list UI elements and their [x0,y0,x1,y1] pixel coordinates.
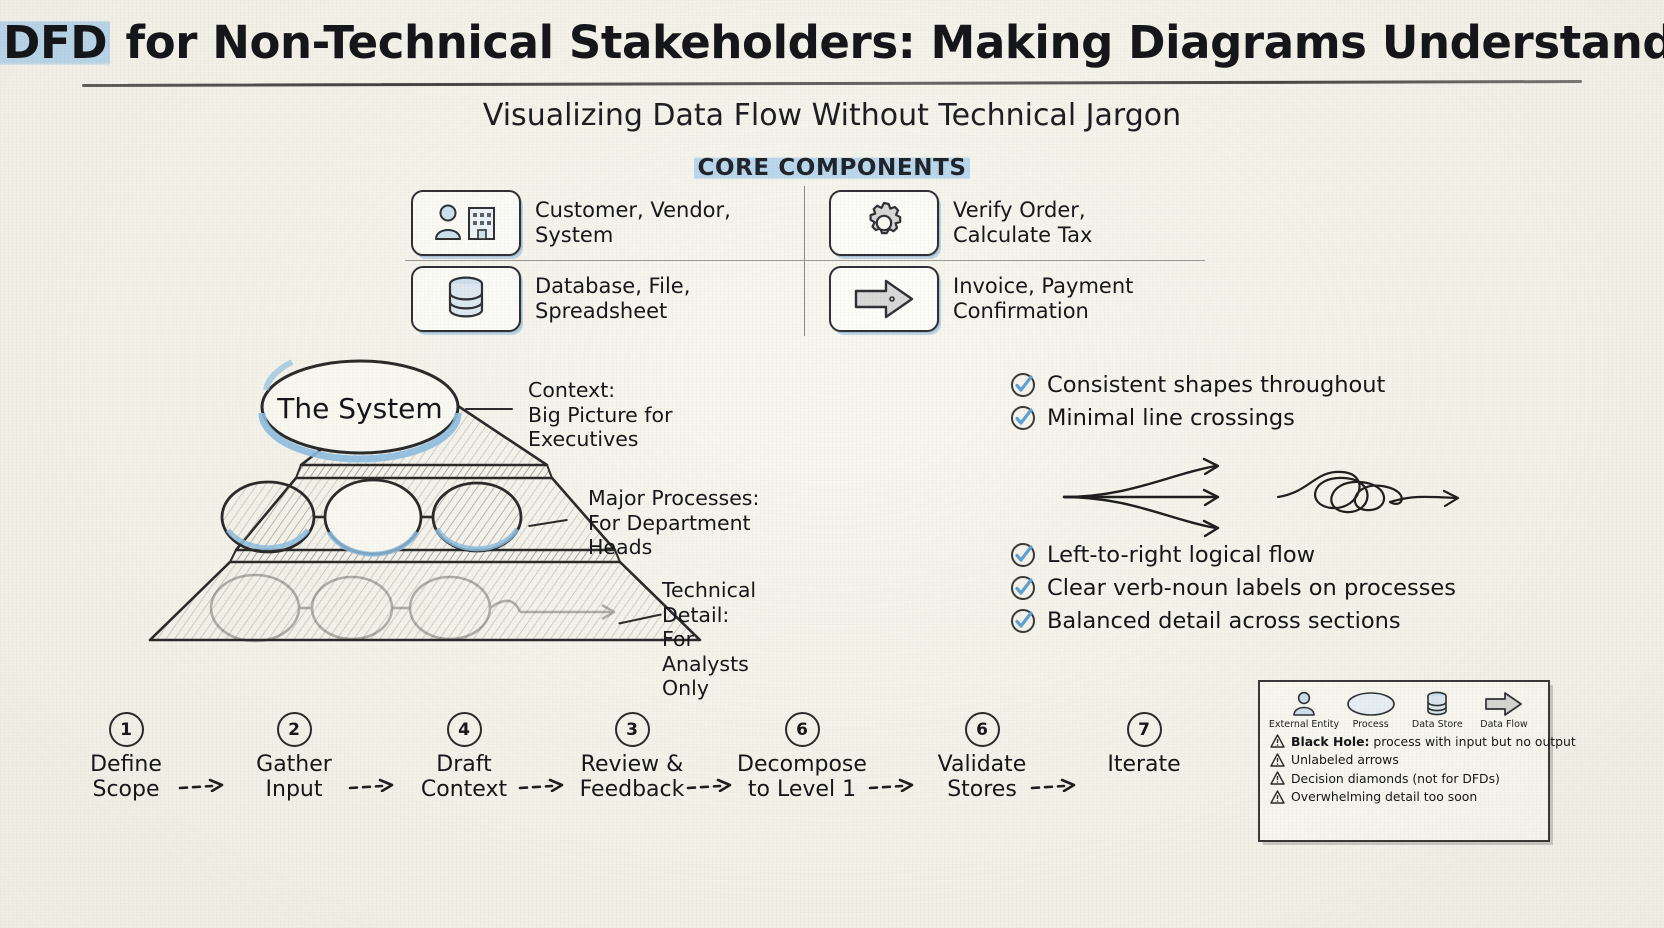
database-icon [443,274,489,324]
step-2: 2 Gather Input [224,712,364,802]
tier-context-title: Context: [528,378,760,403]
step-connector-arrow [348,774,408,792]
title-highlight: DFD [0,16,110,69]
step-label-line2: Scope [56,777,196,802]
step-label-line1: Define [56,752,196,777]
pitfall-item: Unlabeled arrows [1268,752,1540,767]
step-label-line2: Feedback [562,777,702,802]
step-number: 2 [277,712,312,747]
legend-caption: Data Store [1412,719,1463,730]
pitfall-item: Overwhelming detail too soon [1268,789,1540,804]
checklist-label: Left-to-right logical flow [1047,542,1315,568]
warning-triangle-icon [1270,771,1285,785]
data-store-icon [1423,690,1451,718]
gear-icon [859,198,909,248]
legend-caption: Process [1353,719,1389,730]
check-circle-icon [1010,372,1036,398]
step-label-line2: Context [394,777,534,802]
checklist-upper: Consistent shapes throughout Minimal lin… [1010,372,1530,438]
process-ellipse-icon [1345,690,1397,718]
step-3: 4 Draft Context [394,712,534,802]
step-connector-arrow [686,774,746,792]
legend-box: External Entity Process [1258,680,1550,842]
tier-major-title: Major Processes: [588,486,760,511]
tier-label-major: Major Processes: For Department Heads [588,486,760,560]
pitfall-item: Decision diamonds (not for DFDs) [1268,771,1540,786]
core-components-grid: Customer, Vendor, System Verify Order, C… [405,186,1205,336]
step-connector-arrow [518,774,578,792]
data-flow-icon [1484,690,1524,718]
tier-technical-detail: For Analysts Only [662,627,760,701]
page-title: DFD for Non-Technical Stakeholders: Maki… [0,16,1664,69]
check-circle-icon [1010,575,1036,601]
clean-arrows-icon [1064,459,1218,536]
core-component-process: Verify Order, Calculate Tax [805,186,1205,261]
entity-label: Customer, Vendor, System [535,198,798,248]
pitfall-label: Unlabeled arrows [1291,752,1399,767]
checklist-label: Consistent shapes throughout [1047,372,1385,398]
title-block: DFD for Non-Technical Stakeholders: Maki… [0,16,1664,69]
step-label-line1: Review & [562,752,702,777]
infographic-canvas: DFD for Non-Technical Stakeholders: Maki… [0,0,1664,928]
core-components-heading-text: CORE COMPONENTS [694,155,969,181]
step-label-line1: Iterate [1074,752,1214,777]
warning-triangle-icon [1270,790,1285,804]
warning-triangle-icon [1270,734,1285,748]
person-building-icon [431,201,501,245]
pitfall-label: Black Hole: process with input but no ou… [1291,734,1576,749]
checklist-item: Minimal line crossings [1010,405,1530,431]
step-connector-arrow [868,774,928,792]
legend-process: Process [1339,690,1403,730]
title-underline [82,80,1582,87]
legend-caption: Data Flow [1480,719,1527,730]
checklist-lower: Left-to-right logical flow Clear verb-no… [1010,542,1530,641]
leader-line-context [465,408,513,410]
step-label-line1: Draft [394,752,534,777]
process-icon-box [829,190,939,256]
checklist-label: Balanced detail across sections [1047,608,1401,634]
tier-label-context: Context: Big Picture for Executives [528,378,760,452]
legend-external-entity: External Entity [1272,690,1336,730]
step-number: 4 [447,712,482,747]
pitfall-label: Decision diamonds (not for DFDs) [1291,771,1500,786]
checklist-item: Left-to-right logical flow [1010,542,1530,568]
title-rest: for Non-Technical Stakeholders: Making D… [110,16,1664,69]
block-arrow-icon [852,277,916,321]
step-number: 7 [1127,712,1162,747]
step-number: 3 [615,712,650,747]
abstraction-pyramid: The System Context: Big Picture for Exec… [120,350,760,690]
page-subtitle: Visualizing Data Flow Without Technical … [0,98,1664,133]
core-component-datastore: Database, File, Spreadsheet [405,261,805,336]
tangled-arrows-icon [1278,472,1458,512]
process-label: Verify Order, Calculate Tax [953,198,1092,248]
core-components-heading: CORE COMPONENTS [0,155,1664,181]
legend-symbol-row: External Entity Process [1268,688,1540,730]
step-7: 7 Iterate [1074,712,1214,777]
pitfall-bold: Black Hole: [1291,734,1369,749]
legend-data-flow: Data Flow [1472,690,1536,730]
tier-label-technical: Technical Detail: For Analysts Only [662,578,760,701]
system-bubble-label: The System [276,392,442,425]
legend-caption: External Entity [1269,719,1339,730]
dataflow-icon-box [829,266,939,332]
tier-major-detail: For Department Heads [588,511,760,560]
tier-context-detail: Big Picture for Executives [528,403,760,452]
process-steps: 1 Define Scope 2 Gather Input 4 Draft Co… [56,712,1246,842]
legend-data-store: Data Store [1405,690,1469,730]
checklist-label: Clear verb-noun labels on processes [1047,575,1456,601]
tier-technical-title: Technical Detail: [662,578,760,627]
core-component-entity: Customer, Vendor, System [405,186,805,261]
check-circle-icon [1010,542,1036,568]
core-component-dataflow: Invoice, Payment Confirmation [805,261,1205,336]
step-number: 1 [109,712,144,747]
arrow-comparison [1060,452,1480,542]
step-5: 6 Decompose to Level 1 [732,712,872,802]
checklist-label: Minimal line crossings [1047,405,1295,431]
pitfall-item: Black Hole: process with input but no ou… [1268,734,1540,749]
external-entity-icon [1289,690,1319,718]
step-label-line2: to Level 1 [732,777,872,802]
step-number: 6 [965,712,1000,747]
check-circle-icon [1010,405,1036,431]
step-connector-arrow [1030,774,1090,792]
step-number: 6 [785,712,820,747]
datastore-label: Database, File, Spreadsheet [535,274,798,324]
step-label-line1: Decompose [732,752,872,777]
warning-triangle-icon [1270,753,1285,767]
step-label-line2: Input [224,777,364,802]
entity-icon-box [411,190,521,256]
check-circle-icon [1010,608,1036,634]
step-1: 1 Define Scope [56,712,196,802]
step-connector-arrow [178,774,238,792]
pitfall-label: Overwhelming detail too soon [1291,789,1477,804]
pitfall-rest: process with input but no output [1369,734,1575,749]
step-label-line1: Gather [224,752,364,777]
checklist-item: Balanced detail across sections [1010,608,1530,634]
checklist-item: Consistent shapes throughout [1010,372,1530,398]
step-4: 3 Review & Feedback [562,712,702,802]
checklist-item: Clear verb-noun labels on processes [1010,575,1530,601]
datastore-icon-box [411,266,521,332]
dataflow-label: Invoice, Payment Confirmation [953,274,1133,324]
